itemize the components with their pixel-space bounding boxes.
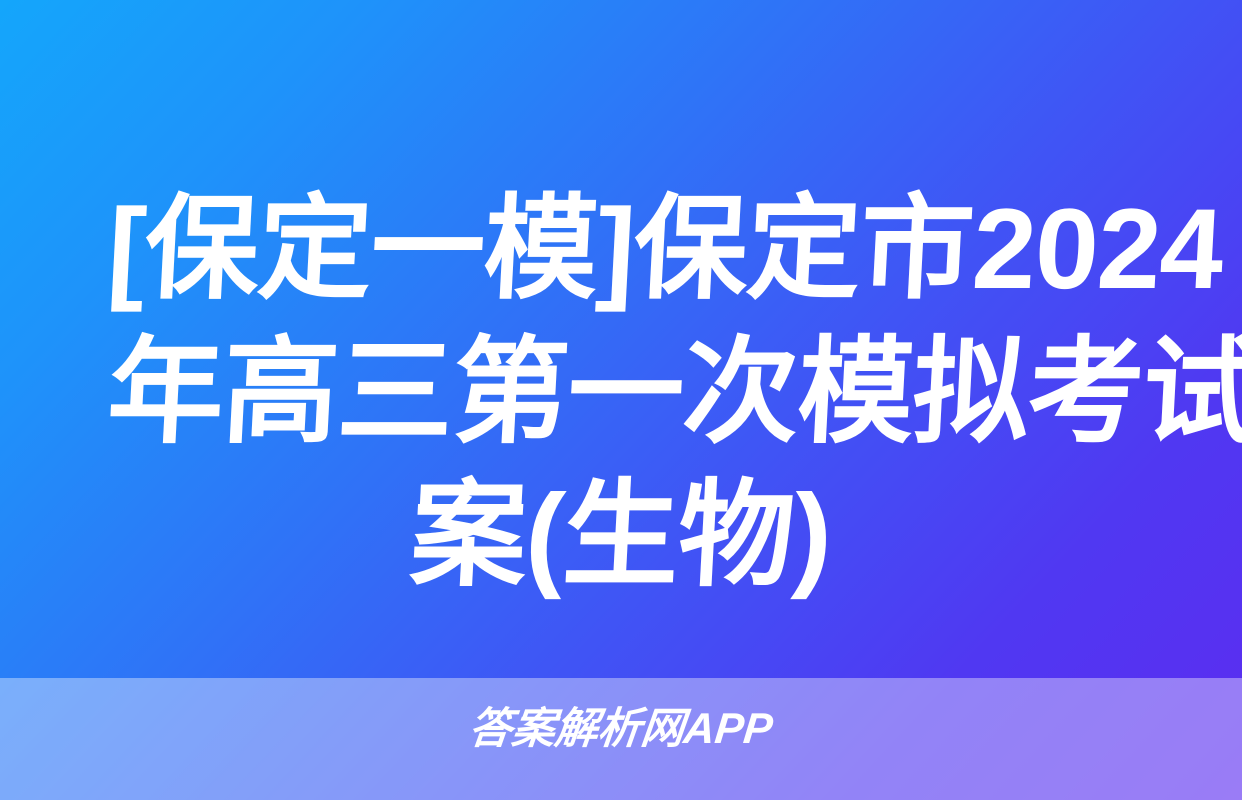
title-line-3: 案(生物): [104, 464, 1137, 607]
page-title: [保定一模]保定市2024 年高三第一次模拟考试答 案(生物): [108, 178, 1134, 607]
title-line-1: [保定一模]保定市2024: [104, 178, 1137, 321]
watermark: 答案解析网APP: [0, 705, 1242, 753]
watermark-label: 答案解析网APP: [467, 705, 775, 753]
title-line-2: 年高三第一次模拟考试答: [104, 321, 1137, 464]
title-card: [保定一模]保定市2024 年高三第一次模拟考试答 案(生物) 答案解析网APP: [0, 0, 1242, 800]
